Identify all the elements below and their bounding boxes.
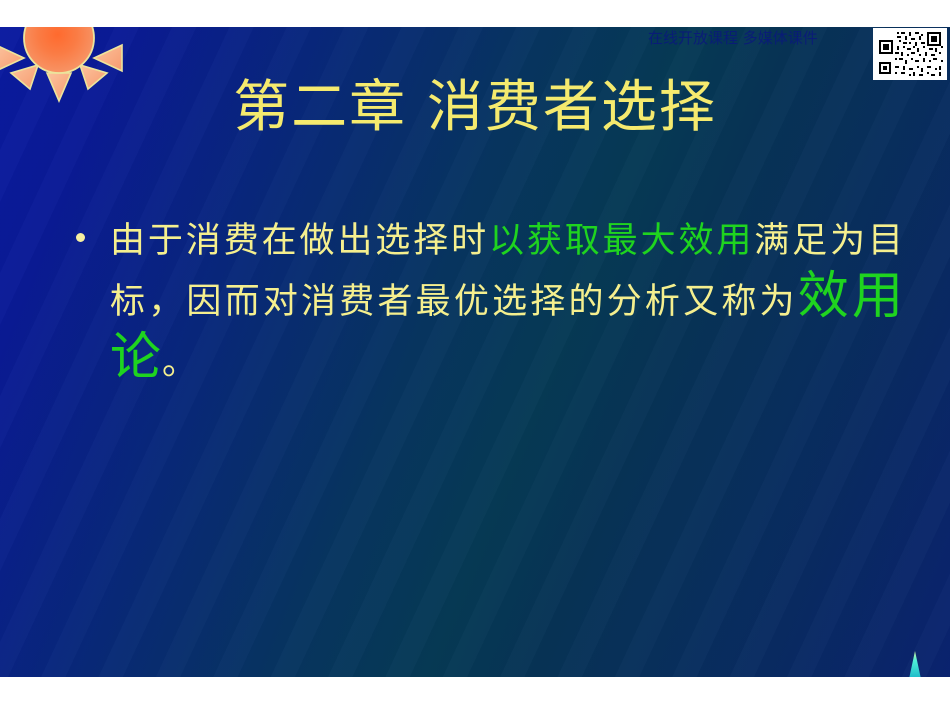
body-segment-5: 。 — [162, 343, 198, 383]
accent-triangle-icon — [908, 651, 922, 677]
sun-icon — [0, 27, 124, 107]
slide-canvas: 在线开放课程 多媒体课件 — [0, 27, 950, 677]
body-segment-2: 以获取最大效用 — [489, 221, 754, 261]
presentation-slide: 在线开放课程 多媒体课件 — [0, 0, 950, 713]
course-header-text: 在线开放课程 多媒体课件 — [648, 27, 880, 50]
bullet-text: 由于消费在做出选择时以获取最大效用满足为目标，因而对消费者最优选择的分析又称为效… — [110, 212, 904, 393]
content-body: 由于消费在做出选择时以获取最大效用满足为目标，因而对消费者最优选择的分析又称为效… — [62, 212, 904, 393]
qr-code-icon[interactable] — [873, 28, 947, 80]
body-segment-1: 由于消费在做出选择时 — [110, 221, 489, 261]
page-title: 第二章 消费者选择 — [0, 75, 950, 141]
list-item: 由于消费在做出选择时以获取最大效用满足为目标，因而对消费者最优选择的分析又称为效… — [62, 212, 904, 393]
bullet-marker-icon — [76, 233, 85, 242]
